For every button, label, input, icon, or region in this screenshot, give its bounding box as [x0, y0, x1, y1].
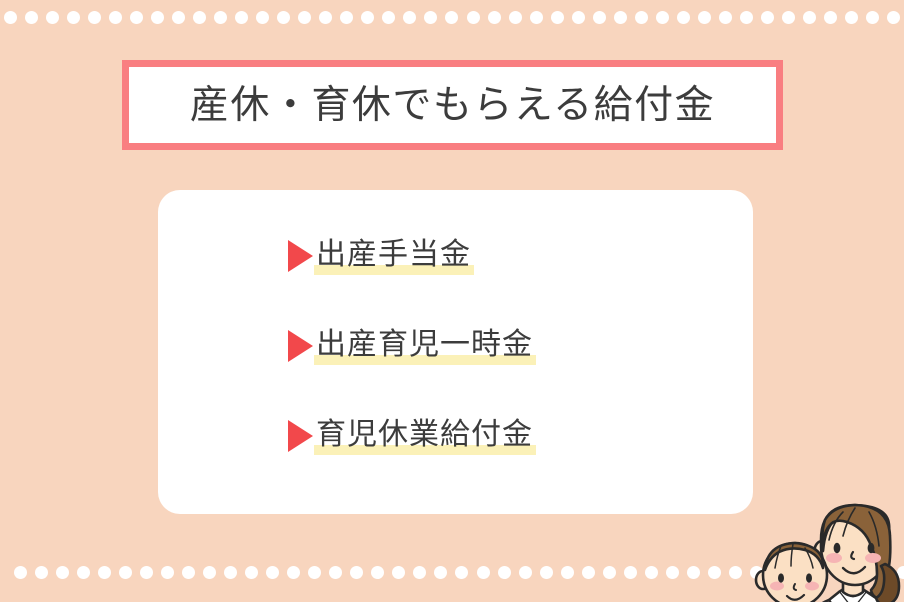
border-dot: [350, 566, 363, 579]
border-dot: [109, 11, 122, 24]
list-item: 出産育児一時金: [288, 323, 708, 369]
border-dot: [656, 11, 669, 24]
border-dot: [14, 566, 27, 579]
border-dot: [824, 11, 837, 24]
border-dot: [88, 11, 101, 24]
border-dot: [119, 566, 132, 579]
border-dot: [182, 566, 195, 579]
border-dot: [561, 566, 574, 579]
border-dot: [298, 11, 311, 24]
benefit-label: 育児休業給付金: [314, 417, 536, 454]
border-dot: [509, 11, 522, 24]
border-dot: [266, 566, 279, 579]
border-dot: [235, 11, 248, 24]
border-dot: [572, 11, 585, 24]
border-dot: [329, 566, 342, 579]
border-dot: [161, 566, 174, 579]
border-dot: [635, 11, 648, 24]
border-dot: [845, 11, 858, 24]
border-dot: [803, 11, 816, 24]
border-dot: [245, 566, 258, 579]
red-triangle-icon: [288, 330, 313, 362]
border-dot: [687, 566, 700, 579]
border-dot: [403, 11, 416, 24]
border-dot: [214, 11, 227, 24]
border-dot: [698, 11, 711, 24]
border-dot: [729, 566, 742, 579]
border-dot: [98, 566, 111, 579]
benefit-list: 出産手当金 出産育児一時金 育児休業給付金: [288, 233, 708, 459]
border-dot: [172, 11, 185, 24]
poster-canvas: 産休・育休でもらえる給付金 出産手当金 出産育児一時金 育児休業給付金: [0, 0, 904, 602]
border-dot: [603, 566, 616, 579]
border-dot: [25, 11, 38, 24]
benefit-label: 出産手当金: [314, 237, 474, 274]
border-dot: [392, 566, 405, 579]
border-dot: [287, 566, 300, 579]
border-dot: [540, 566, 553, 579]
border-dot: [361, 11, 374, 24]
border-dot: [614, 11, 627, 24]
border-dot: [467, 11, 480, 24]
border-dot: [67, 11, 80, 24]
border-dot: [193, 11, 206, 24]
title-box: 産休・育休でもらえる給付金: [122, 60, 783, 150]
red-triangle-icon: [288, 420, 313, 452]
mother-holding-baby-illustration: [743, 488, 904, 602]
border-dot: [424, 11, 437, 24]
top-dot-border: [0, 11, 904, 25]
border-dot: [477, 566, 490, 579]
border-dot: [203, 566, 216, 579]
border-dot: [371, 566, 384, 579]
border-dot: [382, 11, 395, 24]
border-dot: [666, 566, 679, 579]
border-dot: [4, 11, 17, 24]
border-dot: [46, 11, 59, 24]
benefit-label: 出産育児一時金: [314, 327, 536, 364]
border-dot: [708, 566, 721, 579]
border-dot: [488, 11, 501, 24]
border-dot: [277, 11, 290, 24]
list-item: 出産手当金: [288, 233, 708, 279]
border-dot: [140, 566, 153, 579]
border-dot: [56, 566, 69, 579]
border-dot: [761, 11, 774, 24]
border-dot: [455, 566, 468, 579]
border-dot: [77, 566, 90, 579]
border-dot: [319, 11, 332, 24]
border-dot: [582, 566, 595, 579]
border-dot: [645, 566, 658, 579]
border-dot: [740, 11, 753, 24]
list-item: 育児休業給付金: [288, 413, 708, 459]
border-dot: [782, 11, 795, 24]
border-dot: [35, 566, 48, 579]
border-dot: [340, 11, 353, 24]
border-dot: [151, 11, 164, 24]
border-dot: [130, 11, 143, 24]
red-triangle-icon: [288, 240, 313, 272]
border-dot: [498, 566, 511, 579]
border-dot: [866, 11, 879, 24]
border-dot: [551, 11, 564, 24]
border-dot: [887, 11, 900, 24]
border-dot: [256, 11, 269, 24]
page-title: 産休・育休でもらえる給付金: [190, 86, 715, 125]
content-card: 出産手当金 出産育児一時金 育児休業給付金: [158, 190, 753, 514]
border-dot: [530, 11, 543, 24]
border-dot: [413, 566, 426, 579]
border-dot: [224, 566, 237, 579]
border-dot: [519, 566, 532, 579]
border-dot: [677, 11, 690, 24]
border-dot: [434, 566, 447, 579]
border-dot: [593, 11, 606, 24]
border-dot: [719, 11, 732, 24]
border-dot: [445, 11, 458, 24]
border-dot: [308, 566, 321, 579]
border-dot: [624, 566, 637, 579]
